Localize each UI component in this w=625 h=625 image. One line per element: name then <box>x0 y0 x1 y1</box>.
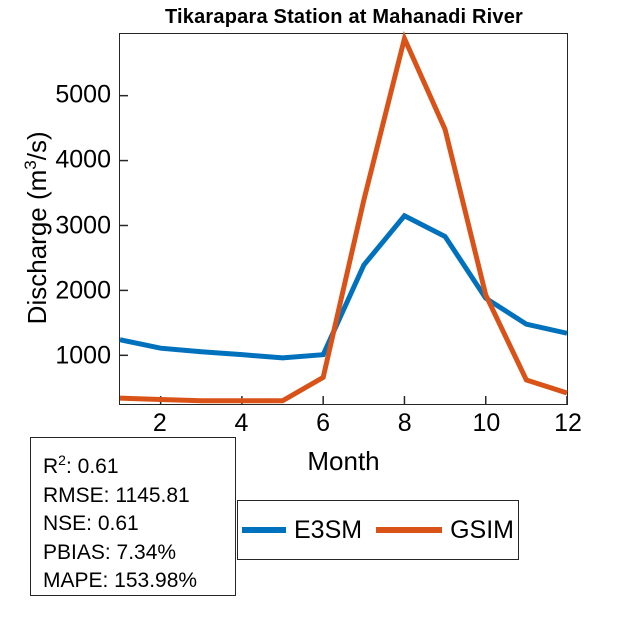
y-axis-label-exponent: 3 <box>21 160 40 169</box>
x-tick-label: 12 <box>554 409 582 438</box>
y-axis-label-tail: /s) <box>22 131 52 160</box>
stat-mape: MAPE: 153.98% <box>43 567 235 596</box>
stat-rmse: RMSE: 1145.81 <box>43 482 235 511</box>
x-tick-label: 4 <box>235 409 249 438</box>
plot-area <box>119 33 568 405</box>
legend-label-e3sm: E3SM <box>294 516 362 545</box>
x-tick-label: 8 <box>398 409 412 438</box>
y-tick-label: 4000 <box>55 148 111 173</box>
series-line-gsim <box>120 39 567 401</box>
legend-entry-gsim[interactable]: GSIM <box>376 516 514 545</box>
y-tick-label: 2000 <box>55 278 111 303</box>
x-tick-label: 2 <box>153 409 167 438</box>
stat-r2-exponent: 2 <box>58 452 66 468</box>
legend-entry-e3sm[interactable]: E3SM <box>242 516 362 545</box>
x-tick-label: 6 <box>316 409 330 438</box>
chart-legend[interactable]: E3SM GSIM <box>237 500 519 560</box>
chart-figure: Tikarapara Station at Mahanadi River 100… <box>0 0 625 625</box>
stat-r2-value: : 0.61 <box>66 455 119 478</box>
plot-svg <box>120 34 567 404</box>
y-axis-tick-marks <box>120 96 128 356</box>
legend-label-gsim: GSIM <box>450 516 514 545</box>
stat-r2-base: R <box>43 455 58 478</box>
legend-swatch-e3sm <box>242 527 286 533</box>
stat-pbias: PBIAS: 7.34% <box>43 539 235 568</box>
statistics-box: R2: 0.61 RMSE: 1145.81 NSE: 0.61 PBIAS: … <box>30 437 236 596</box>
y-tick-label: 3000 <box>55 213 111 238</box>
stat-r2: R2: 0.61 <box>43 446 235 482</box>
chart-title: Tikarapara Station at Mahanadi River <box>120 6 568 29</box>
y-tick-label: 5000 <box>55 83 111 108</box>
y-axis-label: Discharge (m3/s) <box>21 63 53 393</box>
y-axis-label-base: Discharge (m <box>22 170 52 325</box>
legend-swatch-gsim <box>376 527 442 533</box>
stat-nse: NSE: 0.61 <box>43 510 235 539</box>
data-series-group <box>120 39 567 401</box>
x-tick-label: 10 <box>472 409 500 438</box>
y-tick-label: 1000 <box>55 344 111 369</box>
